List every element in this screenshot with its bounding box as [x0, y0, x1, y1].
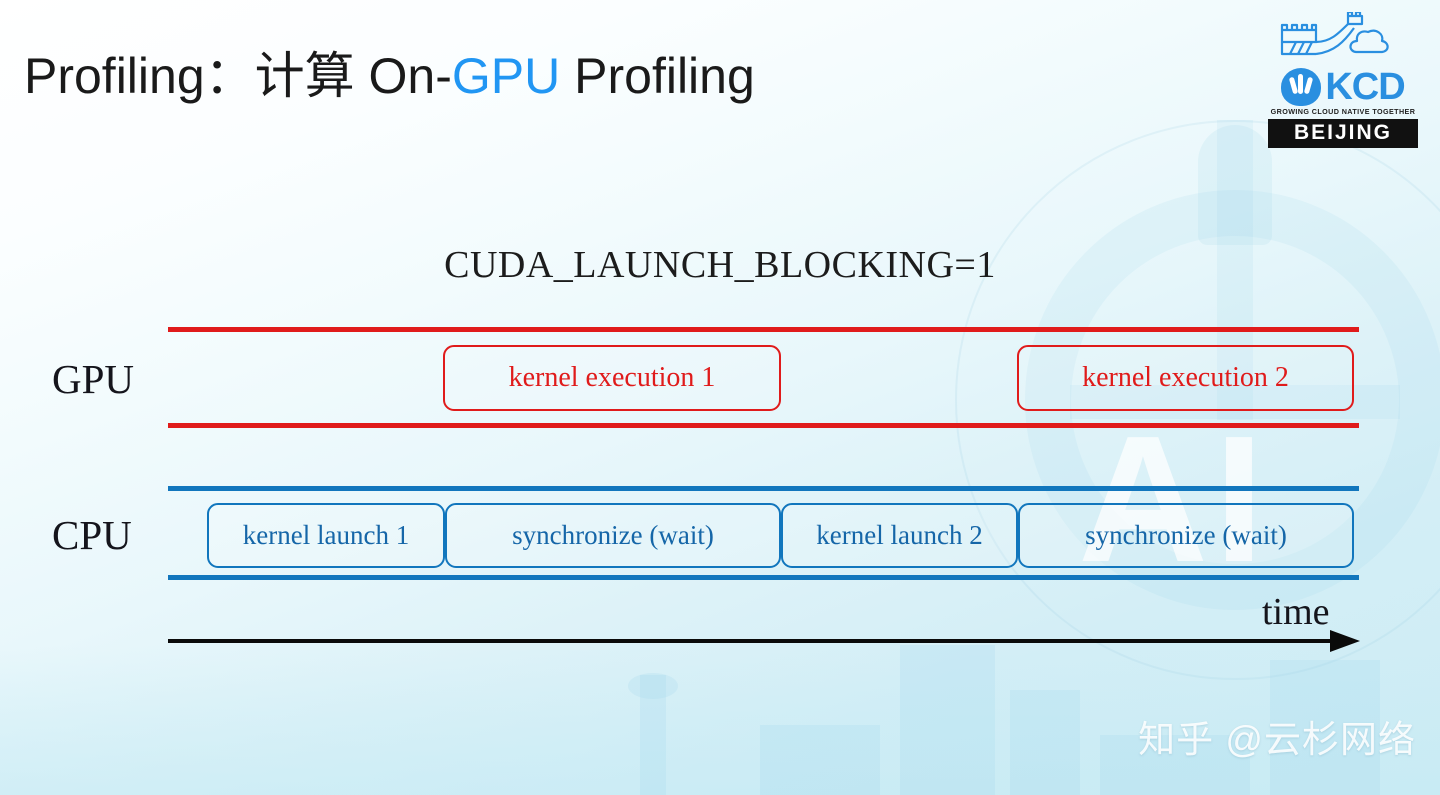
gpu-timeline-block-1: kernel execution 1: [443, 345, 781, 411]
zhihu-watermark: 知乎 @云杉网络: [1138, 709, 1416, 763]
hands-icon: [1281, 68, 1321, 106]
figure-watermark: [1198, 125, 1272, 245]
cpu-row-label: CPU: [52, 511, 132, 559]
skyline-building: [1010, 690, 1080, 795]
kcd-wordmark: KCD: [1268, 68, 1418, 106]
time-axis-arrow-icon: [1330, 630, 1360, 652]
skyline-building: [760, 725, 880, 795]
cpu-timeline-block-1: kernel launch 1: [207, 503, 445, 568]
time-axis-line: [168, 639, 1333, 643]
time-axis-label: time: [1262, 590, 1330, 634]
gpu-timeline-block-2: kernel execution 2: [1017, 345, 1354, 411]
hands-icon-middle: [1298, 74, 1303, 94]
page-title-suffix: Profiling: [560, 48, 755, 104]
cpu-timeline-top-rail: [168, 486, 1359, 491]
kcd-city-badge: BEIJING: [1268, 119, 1418, 148]
great-wall-svg: [1268, 12, 1418, 70]
skyline-building: [900, 645, 995, 795]
great-wall-icon: [1268, 12, 1418, 70]
page-title-accent: GPU: [452, 48, 560, 104]
page-title-prefix: Profiling：计算 On-: [24, 48, 452, 104]
diagram-title: CUDA_LAUNCH_BLOCKING=1: [0, 243, 1440, 287]
cpu-timeline-block-3: kernel launch 2: [781, 503, 1018, 568]
cpu-timeline-bottom-rail: [168, 575, 1359, 580]
gpu-row-label: GPU: [52, 355, 134, 403]
skyline-tower-ring: [628, 673, 678, 699]
cpu-timeline-block-2: synchronize (wait): [445, 503, 781, 568]
gpu-timeline-bottom-rail: [168, 423, 1359, 428]
page-title: Profiling：计算 On-GPU Profiling: [24, 36, 755, 108]
kcd-logo: KCD GROWING CLOUD NATIVE TOGETHER BEIJIN…: [1268, 12, 1418, 148]
gpu-timeline-top-rail: [168, 327, 1359, 332]
slide-canvas: AI Profiling：计算 On-GPU Profiling: [0, 0, 1440, 795]
kcd-tagline: GROWING CLOUD NATIVE TOGETHER: [1268, 107, 1418, 116]
kcd-text: KCD: [1325, 70, 1404, 104]
cpu-timeline-block-4: synchronize (wait): [1018, 503, 1354, 568]
